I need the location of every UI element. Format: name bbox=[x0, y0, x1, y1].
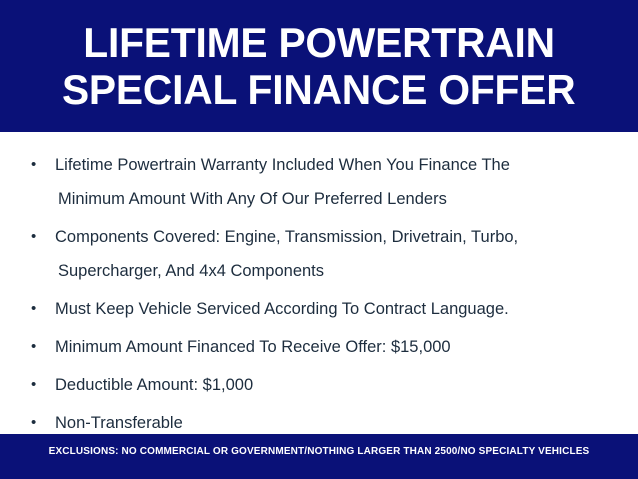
offer-slide: LIFETIME POWERTRAIN SPECIAL FINANCE OFFE… bbox=[0, 0, 638, 479]
list-item: • Must Keep Vehicle Serviced According T… bbox=[22, 292, 616, 326]
offer-bullet-list: • Lifetime Powertrain Warranty Included … bbox=[22, 148, 616, 440]
offer-details-body: • Lifetime Powertrain Warranty Included … bbox=[0, 132, 638, 434]
list-item-text: Components Covered: Engine, Transmission… bbox=[55, 220, 616, 288]
list-item-text: Minimum Amount Financed To Receive Offer… bbox=[55, 330, 616, 364]
page-title-line-2: SPECIAL FINANCE OFFER bbox=[62, 66, 576, 113]
list-item-line-1: Must Keep Vehicle Serviced According To … bbox=[55, 300, 509, 318]
list-item: • Components Covered: Engine, Transmissi… bbox=[22, 220, 616, 288]
header-banner: LIFETIME POWERTRAIN SPECIAL FINANCE OFFE… bbox=[0, 0, 638, 132]
list-item-text: Lifetime Powertrain Warranty Included Wh… bbox=[55, 148, 616, 216]
list-item-line-1: Minimum Amount Financed To Receive Offer… bbox=[55, 338, 451, 356]
list-item-line-2: Supercharger, And 4x4 Components bbox=[55, 254, 616, 288]
bullet-dot-icon: • bbox=[31, 330, 41, 364]
list-item-line-1: Components Covered: Engine, Transmission… bbox=[55, 228, 518, 246]
bullet-dot-icon: • bbox=[31, 292, 41, 326]
footer-banner: EXCLUSIONS: NO COMMERCIAL OR GOVERNMENT/… bbox=[0, 434, 638, 479]
bullet-dot-icon: • bbox=[31, 220, 41, 254]
bullet-dot-icon: • bbox=[31, 368, 41, 402]
list-item-text: Must Keep Vehicle Serviced According To … bbox=[55, 292, 616, 326]
list-item-line-1: Lifetime Powertrain Warranty Included Wh… bbox=[55, 156, 510, 174]
page-title-line-1: LIFETIME POWERTRAIN bbox=[83, 19, 555, 66]
list-item-line-1: Deductible Amount: $1,000 bbox=[55, 376, 253, 394]
list-item-text: Deductible Amount: $1,000 bbox=[55, 368, 616, 402]
exclusions-text: EXCLUSIONS: NO COMMERCIAL OR GOVERNMENT/… bbox=[0, 445, 638, 458]
bullet-dot-icon: • bbox=[31, 148, 41, 182]
list-item: • Lifetime Powertrain Warranty Included … bbox=[22, 148, 616, 216]
list-item: • Deductible Amount: $1,000 bbox=[22, 368, 616, 402]
list-item-line-2: Minimum Amount With Any Of Our Preferred… bbox=[55, 182, 616, 216]
list-item: • Minimum Amount Financed To Receive Off… bbox=[22, 330, 616, 364]
list-item-line-1: Non-Transferable bbox=[55, 414, 183, 432]
